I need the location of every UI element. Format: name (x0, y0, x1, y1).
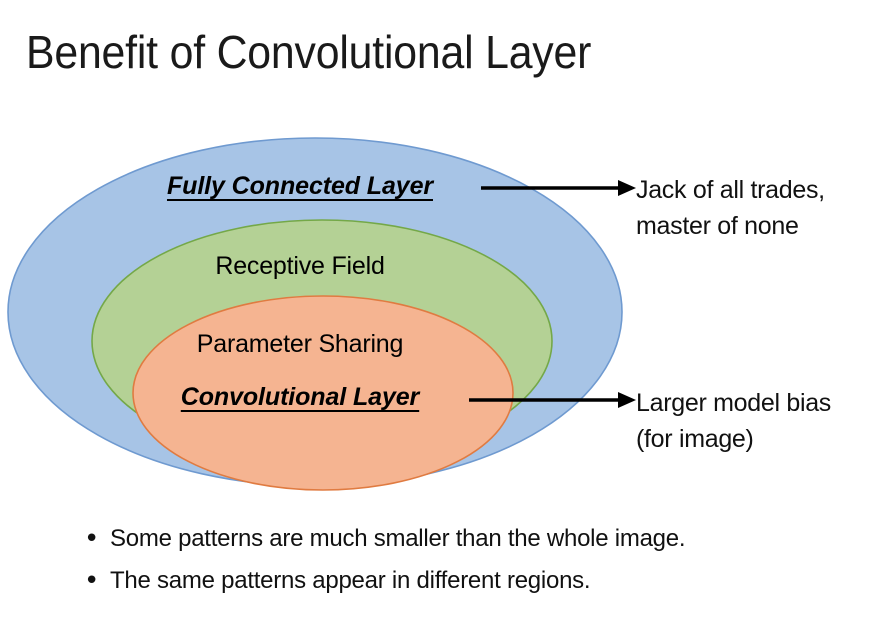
callout-convolutional-line-2: (for image) (636, 421, 831, 457)
ellipse-label-parameter-sharing: Parameter Sharing (110, 330, 490, 359)
list-item: • The same patterns appear in different … (84, 564, 844, 598)
bullet-text: Some patterns are much smaller than the … (110, 522, 685, 556)
page-title: Benefit of Convolutional Layer (26, 24, 789, 80)
bullet-text: The same patterns appear in different re… (110, 564, 590, 598)
list-item: • Some patterns are much smaller than th… (84, 522, 844, 556)
callout-fully-connected: Jack of all trades, master of none (636, 172, 825, 244)
ellipse-label-receptive-field: Receptive Field (110, 252, 490, 281)
bullet-marker-icon: • (84, 522, 110, 556)
callout-fully-connected-line-1: Jack of all trades, (636, 172, 825, 208)
callout-convolutional-line-1: Larger model bias (636, 385, 831, 421)
ellipse-label-convolutional-layer: Convolutional Layer (110, 383, 490, 412)
bullet-marker-icon: • (84, 564, 110, 598)
bullet-list: • Some patterns are much smaller than th… (84, 522, 844, 606)
ellipse-label-fully-connected-layer: Fully Connected Layer (110, 172, 490, 201)
callout-convolutional: Larger model bias (for image) (636, 385, 831, 457)
callout-fully-connected-line-2: master of none (636, 208, 825, 244)
nested-ellipse-diagram: Fully Connected Layer Receptive Field Pa… (0, 130, 660, 510)
